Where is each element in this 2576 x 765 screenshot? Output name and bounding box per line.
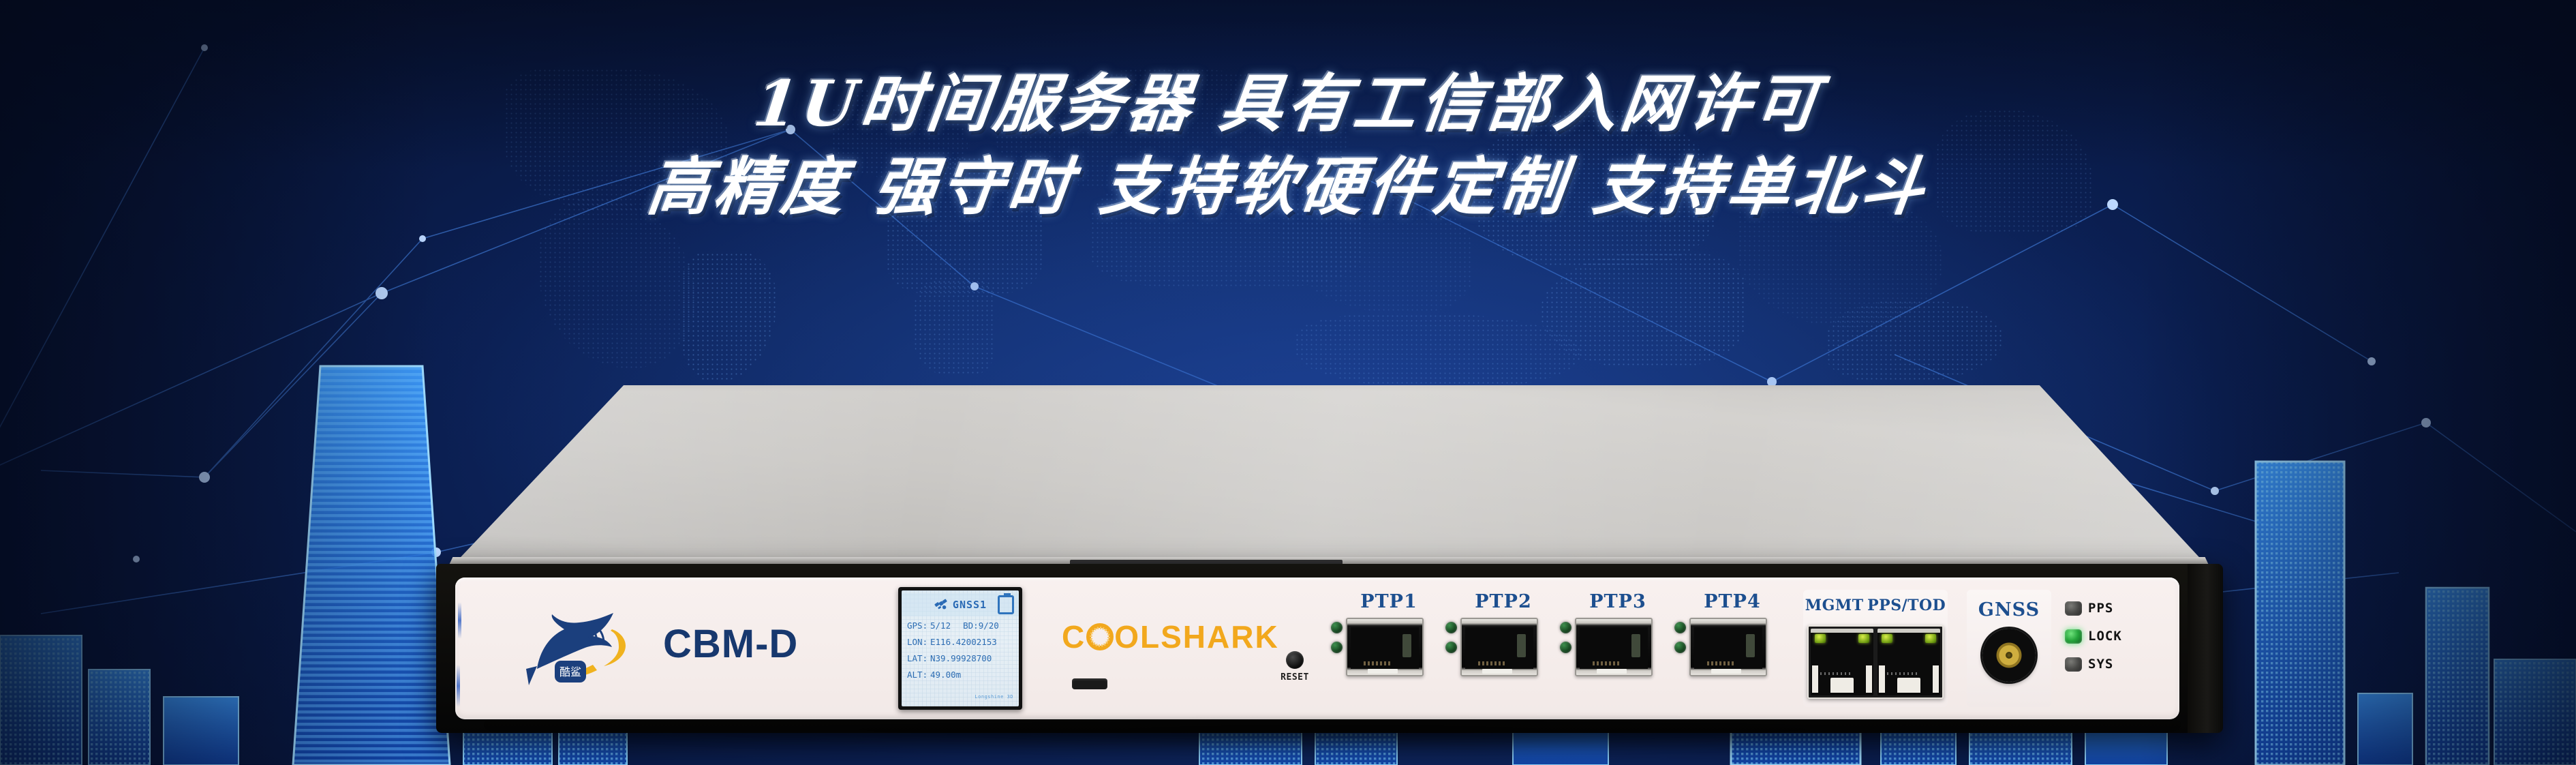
sfp-cage[interactable] [1689, 618, 1767, 676]
gnss-label: GNSS [1978, 599, 2040, 620]
device-top-sheen [436, 385, 2222, 568]
rj45-act-led-icon [1858, 634, 1869, 643]
lcd-alt-key: ALT: [907, 670, 930, 680]
link-led-icon [1674, 622, 1686, 633]
reset-pinhole-icon[interactable] [1286, 651, 1304, 669]
lcd-bd-key: BD: [963, 620, 979, 631]
ptp-port-4-leds [1674, 618, 1686, 653]
device-drop-shadow [484, 723, 2181, 750]
status-led-list: PPS LOCK SYS [2065, 601, 2167, 685]
usb-slot-icon[interactable] [1072, 678, 1107, 689]
ptp-port-2-label: PTP2 [1462, 591, 1545, 612]
panel-glint-left [458, 602, 461, 639]
sfp-cage[interactable] [1346, 618, 1424, 676]
ptp-port-1-leds [1331, 618, 1343, 653]
lcd-data-rows: GPS: 5/12 BD: 9/20 LON: E116.42002153 LA… [907, 620, 1015, 686]
link-led-icon [1445, 622, 1457, 633]
time-server-device: 酷鲨 CBM-D GNSS [436, 385, 2222, 733]
ptp-port-1[interactable]: PTP1 [1331, 591, 1430, 676]
ptp-port-group: PTP1 PTP2 [1331, 591, 1774, 676]
ptp-port-3-label: PTP3 [1576, 591, 1659, 612]
battery-icon [998, 595, 1014, 614]
lcd-lon-key: LON: [907, 637, 930, 647]
rj45-port-block: MGMT PPS/TOD [1803, 590, 1948, 707]
reset-control[interactable]: RESET [1268, 651, 1322, 682]
lcd-row-alt: ALT: 49.00m [907, 670, 1015, 680]
lcd-row-lat: LAT: N39.99928700 [907, 653, 1015, 663]
coolshark-wordmark: C OLSHARK [1062, 618, 1279, 655]
device-front-panel: 酷鲨 CBM-D GNSS [455, 577, 2179, 719]
lcd-gps-value: 5/12 [930, 620, 951, 631]
lock-led-icon [2065, 629, 2082, 644]
ptp-port-1-label: PTP1 [1347, 591, 1430, 612]
gnss-antenna-block: GNSS [1967, 590, 2051, 707]
link-led-icon [1560, 622, 1571, 633]
lock-led-label: LOCK [2088, 629, 2122, 644]
mgmt-rj45-jack[interactable] [1811, 629, 1873, 695]
link-led-icon [1331, 622, 1343, 633]
device-model-label: CBM-D [663, 621, 798, 667]
mgmt-port-label: MGMT [1805, 597, 1864, 614]
sys-led-label: SYS [2088, 657, 2113, 672]
wordmark-part-c: C [1062, 618, 1086, 655]
lcd-bd-value: 9/20 [979, 620, 999, 631]
ptp-port-4-label: PTP4 [1691, 591, 1774, 612]
lcd-row-gps: GPS: 5/12 BD: 9/20 [907, 620, 1015, 631]
sfp-cage[interactable] [1460, 618, 1538, 676]
lcd-footer-note: Longshine 3D [975, 694, 1013, 700]
act-led-icon [1445, 642, 1457, 653]
act-led-icon [1674, 642, 1686, 653]
lcd-title: GNSS1 [953, 599, 987, 611]
sfp-cage[interactable] [1575, 618, 1653, 676]
lcd-gps-key: GPS: [907, 620, 930, 631]
lcd-alt-value: 49.00m [930, 670, 961, 680]
shark-logo-icon: 酷鲨 [517, 603, 646, 695]
rj45-link-led-icon [1882, 634, 1892, 643]
lcd-lat-value: N39.99928700 [930, 653, 992, 663]
ptp-port-2-leds [1445, 618, 1457, 653]
panel-glint-left-lower [457, 665, 460, 707]
lcd-lat-key: LAT: [907, 653, 930, 663]
satellite-icon [934, 597, 949, 612]
sma-connector-icon[interactable] [1982, 629, 2036, 682]
lcd-row-lon: LON: E116.42002153 [907, 637, 1015, 647]
lcd-lon-value: E116.42002153 [930, 637, 997, 647]
pps-led-icon [2065, 601, 2082, 616]
rj45-act-led-icon [1925, 634, 1936, 643]
rj45-link-led-icon [1815, 634, 1826, 643]
status-row-pps: PPS [2065, 601, 2167, 616]
act-led-icon [1560, 642, 1571, 653]
reset-label: RESET [1268, 672, 1322, 682]
ptp-port-4[interactable]: PTP4 [1674, 591, 1774, 676]
pps-led-label: PPS [2088, 601, 2113, 616]
wordmark-part-rest: OLSHARK [1114, 618, 1278, 655]
act-led-icon [1331, 642, 1343, 653]
wordmark-o-ring-icon [1086, 623, 1114, 650]
status-row-lock: LOCK [2065, 629, 2167, 644]
sys-led-icon [2065, 657, 2082, 672]
pps-tod-port-label: PPS/TOD [1867, 597, 1946, 614]
svg-text:酷鲨: 酷鲨 [559, 665, 581, 678]
ptp-port-3[interactable]: PTP3 [1560, 591, 1659, 676]
lcd-display[interactable]: GNSS1 GPS: 5/12 BD: 9/20 LON: E116.42002… [898, 587, 1022, 710]
brand-area: 酷鲨 CBM-D [517, 598, 871, 700]
ptp-port-3-leds [1560, 618, 1571, 653]
status-row-sys: SYS [2065, 657, 2167, 672]
ptp-port-2[interactable]: PTP2 [1445, 591, 1545, 676]
pps-tod-rj45-jack[interactable] [1877, 629, 1940, 695]
device-right-side-panel [2188, 564, 2223, 733]
